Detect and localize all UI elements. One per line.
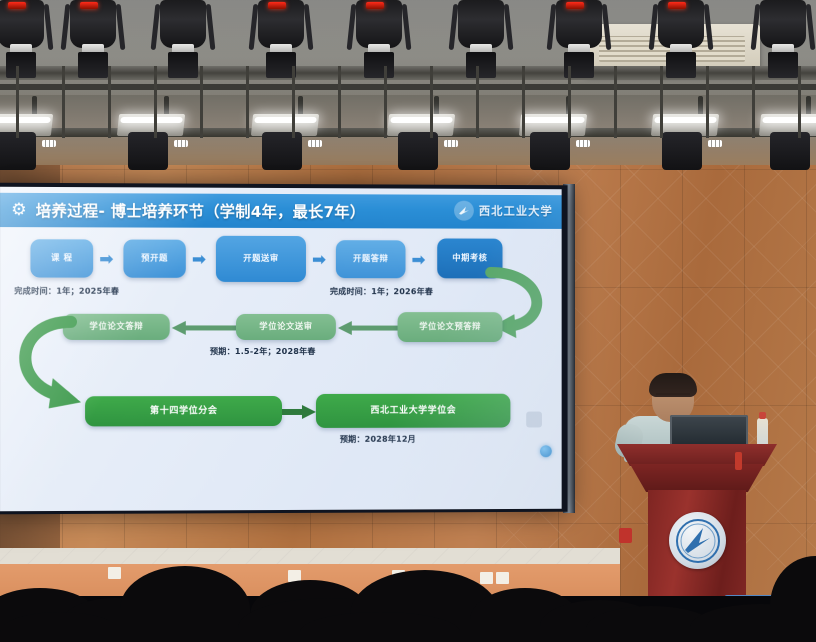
- arrow-right-icon: ➡: [411, 252, 425, 269]
- podium-neck: [630, 464, 764, 492]
- flow-box-row3-2: 西北工业大学学位会: [316, 394, 510, 428]
- caption-row3: 预期：2028年12月: [340, 434, 416, 445]
- stage-light-top-7: [548, 0, 610, 72]
- wall-switch-1: [108, 567, 121, 579]
- small-red-object: [735, 452, 742, 470]
- truss-vertical: [660, 66, 663, 138]
- stage-light-top-1: [0, 0, 52, 72]
- slide-overlay-icon[interactable]: [526, 412, 542, 428]
- slide-content: 课 程 ➡ 预开题 ➡ 开题送审 ➡ 开题答辩 ➡ 中期考核 完成时间：1年；2…: [0, 229, 562, 511]
- projection-screen: ⚙ 培养过程- 博士培养环节（学制4年，最长7年） 西北工业大学 课 程: [0, 183, 568, 515]
- stage-light-top-9: [752, 0, 814, 72]
- caption-row1-left: 完成时间：1年；2025年春: [14, 286, 119, 297]
- brand-lockup: 西北工业大学: [454, 201, 553, 221]
- flow-box-row1-4: 开题答辩: [336, 240, 406, 278]
- flow-box-row2-2: 学位论文送审: [236, 314, 336, 340]
- truss-vertical: [62, 66, 65, 138]
- stage-light-top-3: [152, 0, 214, 72]
- slide-title-bar: ⚙ 培养过程- 博士培养环节（学制4年，最长7年） 西北工业大学: [0, 193, 562, 229]
- stage-light-top-8: [650, 0, 712, 72]
- stage-light-top-2: [62, 0, 124, 72]
- arrow-right-small-icon: [282, 404, 316, 420]
- brand-name: 西北工业大学: [479, 203, 553, 219]
- slide-pointer-dot[interactable]: [540, 445, 552, 457]
- truss-vertical: [292, 66, 295, 138]
- truss-vertical: [16, 66, 19, 138]
- stage-light-bottom-3: [252, 108, 326, 174]
- truss-vertical: [476, 66, 479, 138]
- presentation-slide: ⚙ 培养过程- 博士培养环节（学制4年，最长7年） 西北工业大学 课 程: [0, 187, 562, 512]
- truss-vertical: [568, 66, 571, 138]
- truss-vertical: [522, 66, 525, 138]
- nwpu-logo-icon: [454, 201, 474, 221]
- caption-row2: 预期：1.5-2年；2028年春: [210, 346, 316, 357]
- flow-box-row1-1: 课 程: [30, 239, 93, 277]
- flow-box-row3-1: 第十四学位分会: [85, 396, 282, 426]
- truss-vertical: [706, 66, 709, 138]
- stage-light-bottom-5: [520, 108, 594, 174]
- arrow-right-icon: ➡: [312, 252, 326, 269]
- lighting-truss-rail: [0, 84, 816, 90]
- stage-light-bottom-1: [0, 108, 60, 174]
- water-bottle-icon: [757, 418, 768, 448]
- arrow-right-icon: ➡: [192, 252, 206, 269]
- caption-row1-right: 完成时间：1年；2026年春: [330, 286, 433, 297]
- truss-vertical: [384, 66, 387, 138]
- truss-vertical: [752, 66, 755, 138]
- truss-vertical: [338, 66, 341, 138]
- laptop-icon: [670, 415, 748, 447]
- truss-vertical: [246, 66, 249, 138]
- stage-light-top-4: [250, 0, 312, 72]
- flow-box-row1-2: 预开题: [123, 240, 185, 278]
- arrow-left-icon: [170, 320, 236, 336]
- wall-switch-5: [496, 572, 509, 584]
- stage-light-top-5: [348, 0, 410, 72]
- arrow-left-icon: [336, 320, 398, 336]
- podium-top: [617, 444, 777, 466]
- glasses-icon: [656, 393, 690, 402]
- truss-vertical: [798, 66, 801, 138]
- truss-vertical: [614, 66, 617, 138]
- lecture-hall-photo: ⚙ 培养过程- 博士培养环节（学制4年，最长7年） 西北工业大学 课 程: [0, 0, 816, 642]
- truss-vertical: [108, 66, 111, 138]
- flow-box-row2-3: 学位论文预答辩: [398, 312, 503, 342]
- nwpu-seal-icon: [669, 512, 726, 569]
- stage-light-bottom-7: [760, 108, 816, 174]
- truss-vertical: [200, 66, 203, 138]
- truss-vertical: [154, 66, 157, 138]
- slide-title: 培养过程- 博士培养环节（学制4年，最长7年）: [36, 199, 365, 222]
- wall-switch-4: [480, 572, 493, 584]
- stage-light-bottom-4: [388, 108, 462, 174]
- stage-light-bottom-6: [652, 108, 726, 174]
- flow-box-row1-3: 开题送审: [216, 236, 306, 282]
- arrow-right-icon: ➡: [99, 252, 113, 269]
- stage-light-top-6: [450, 0, 512, 72]
- truss-vertical: [430, 66, 433, 138]
- gear-icon: ⚙: [11, 201, 26, 218]
- wall-sign-red: [619, 528, 632, 543]
- audience-head-3: [120, 566, 250, 642]
